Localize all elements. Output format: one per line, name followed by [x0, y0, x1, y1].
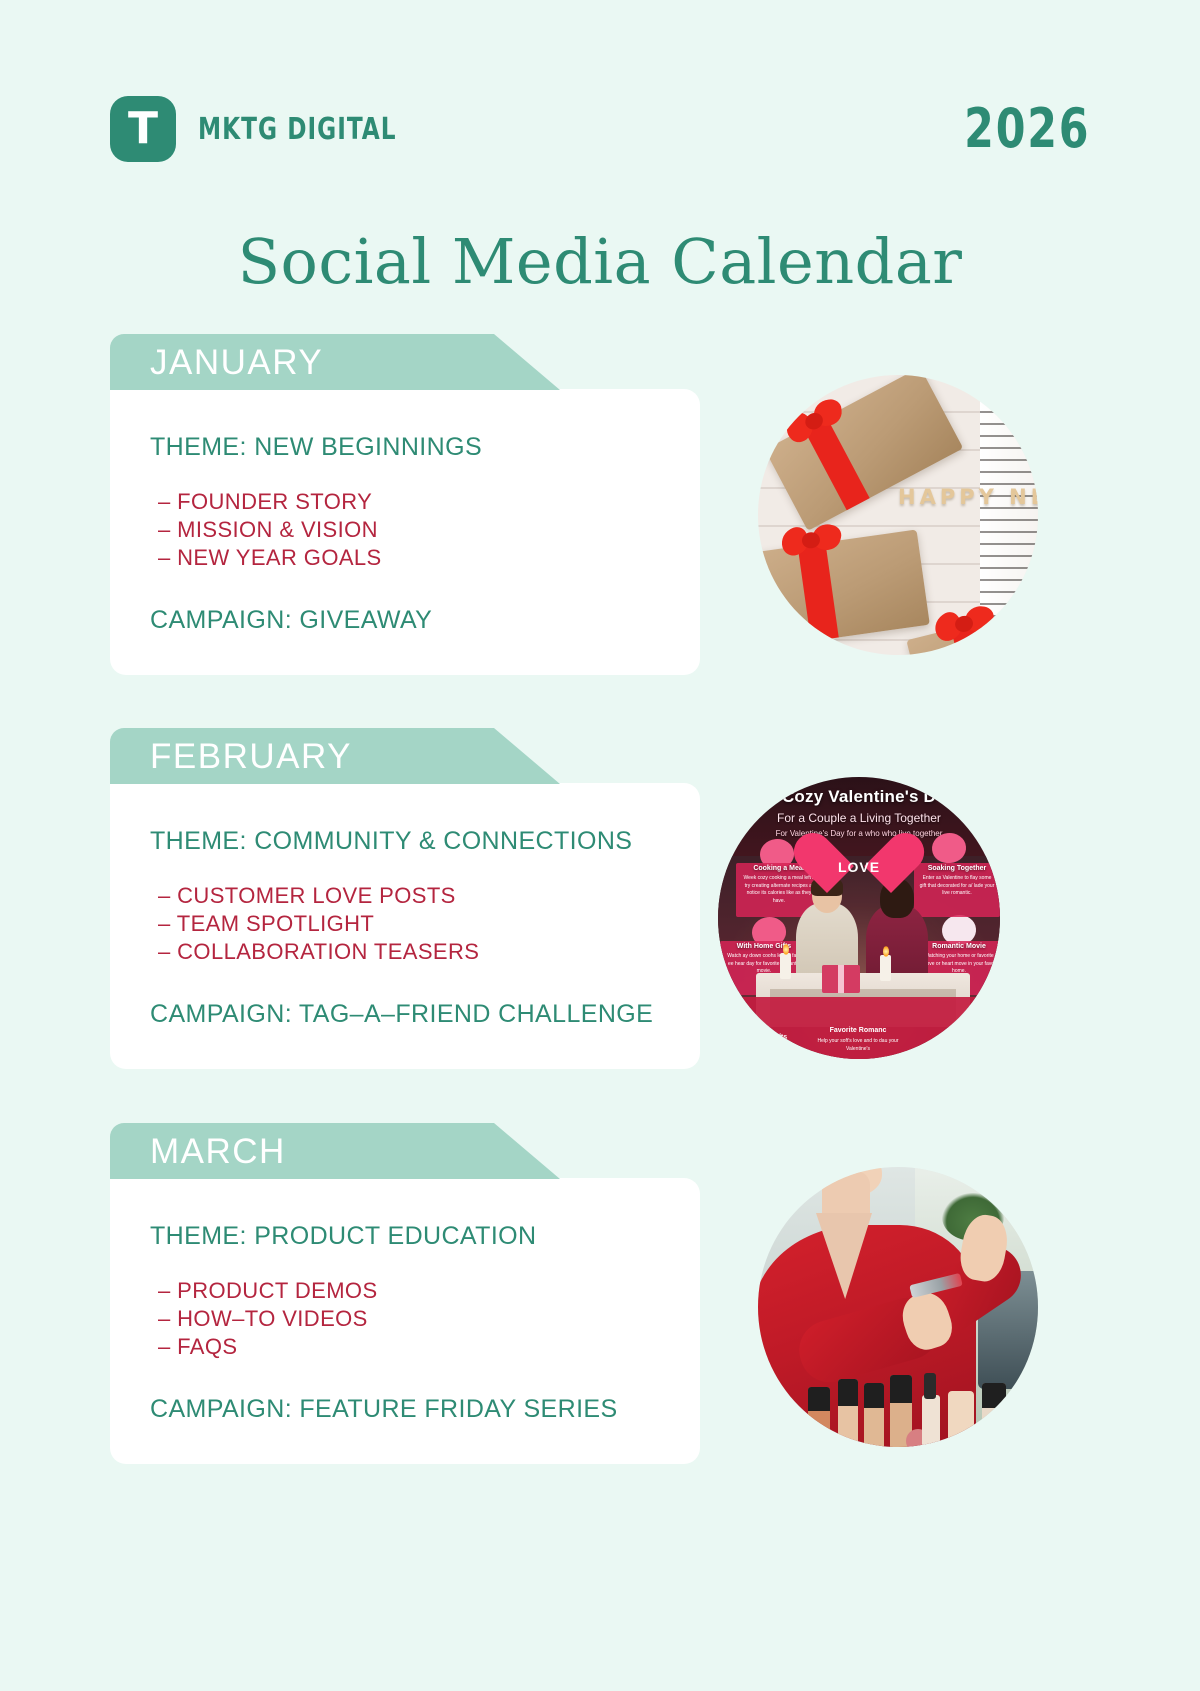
campaign-february: CAMPAIGN: TAG–A–FRIEND CHALLENGE — [150, 1000, 660, 1029]
logo-letter: T — [128, 107, 158, 151]
valentine-bottom-item-title: Their Li — [910, 1033, 994, 1044]
valentine-poster-title: Cozy Valentine's D — [718, 787, 1000, 807]
march-woman-red-blouse-cosmetics-photo — [758, 1167, 1038, 1447]
love-heart-label: LOVE — [838, 859, 880, 875]
valentine-bottom-item: Their Li Hall pl — [910, 1033, 994, 1053]
valentine-bottom-band: Heartfelt Gifts Viscovine of a Favorite … — [718, 997, 1000, 1059]
valentine-bottom-item-body: Viscovine of a — [748, 1046, 779, 1052]
bullet-list-february: – CUSTOMER LOVE POSTS – TEAM SPOTLIGHT –… — [150, 882, 660, 966]
cosmetic-tube-icon — [838, 1379, 858, 1447]
month-banner-january: JANUARY — [110, 334, 560, 390]
foundation-bottle-icon — [948, 1391, 974, 1447]
valentine-bottom-item-body: Help your soft's love and to dau your Va… — [817, 1038, 898, 1052]
cosmetic-tube-icon — [808, 1387, 830, 1447]
list-item: – MISSION & VISION — [158, 516, 660, 544]
brand-logo-icon: T — [110, 96, 176, 162]
month-name-january: JANUARY — [150, 345, 323, 380]
list-item: – COLLABORATION TEASERS — [158, 938, 660, 966]
cosmetic-bottle-icon — [982, 1383, 1006, 1447]
month-name-february: FEBRUARY — [150, 739, 352, 774]
page-title: Social Media Calendar — [0, 228, 1200, 296]
cosmetic-tube-icon — [864, 1383, 884, 1447]
valentine-info-card-body: Watching your home or favorite move or h… — [922, 953, 995, 974]
list-item: – HOW–TO VIDEOS — [158, 1305, 660, 1333]
masthead: T MKTG DIGITAL 2026 — [110, 96, 1090, 162]
theme-january: THEME: NEW BEGINNINGS — [150, 433, 660, 462]
happy-new-year-letters: HAPPY NEW YEAR — [898, 479, 1038, 516]
february-valentines-couple-infographic-photo: Cozy Valentine's D For a Couple a Living… — [718, 777, 1000, 1059]
cosmetic-bottle-icon — [922, 1395, 940, 1447]
theme-march: THEME: PRODUCT EDUCATION — [150, 1222, 660, 1251]
campaign-march: CAMPAIGN: FEATURE FRIDAY SERIES — [150, 1395, 660, 1424]
valentine-poster-subtitle-1: For a Couple a Living Together — [718, 811, 1000, 825]
valentine-bottom-item-title: Heartfelt Gifts — [722, 1033, 806, 1044]
valentine-bottom-item-body: Hall pl — [945, 1046, 959, 1052]
cosmetics-row — [802, 1373, 1028, 1447]
month-card-march: THEME: PRODUCT EDUCATION – PRODUCT DEMOS… — [110, 1178, 700, 1464]
bullet-list-january: – FOUNDER STORY – MISSION & VISION – NEW… — [150, 488, 660, 572]
campaign-january: CAMPAIGN: GIVEAWAY — [150, 606, 660, 635]
list-item: – NEW YEAR GOALS — [158, 544, 660, 572]
month-banner-february: FEBRUARY — [110, 728, 560, 784]
dropper-icon — [924, 1373, 936, 1399]
valentine-info-card-title: Soaking Together — [914, 864, 1000, 875]
love-heart-icon: LOVE — [823, 835, 895, 899]
candle-icon — [780, 953, 791, 979]
valentine-bottom-item-title: Favorite Romanc — [816, 1026, 900, 1037]
month-banner-march: MARCH — [110, 1123, 560, 1179]
valentine-bottom-item: Heartfelt Gifts Viscovine of a — [722, 1033, 806, 1053]
january-gifts-happy-new-year-photo: HAPPY NEW YEAR — [758, 375, 1038, 655]
valentine-bottom-item: Favorite Romanc Help your soft's love an… — [816, 1026, 900, 1054]
calendar-page: T MKTG DIGITAL 2026 Social Media Calenda… — [0, 0, 1200, 1691]
bullet-list-march: – PRODUCT DEMOS – HOW–TO VIDEOS – FAQS — [150, 1277, 660, 1361]
candle-icon — [880, 955, 891, 981]
month-card-january: THEME: NEW BEGINNINGS – FOUNDER STORY – … — [110, 389, 700, 675]
gift-box-icon — [822, 965, 860, 993]
valentine-info-card-body: Enter as Valentine to flay some gift tha… — [920, 875, 995, 896]
brand-lockup: T MKTG DIGITAL — [110, 96, 429, 162]
month-name-march: MARCH — [150, 1134, 286, 1169]
brand-name: MKTG DIGITAL — [198, 112, 397, 147]
list-item: – PRODUCT DEMOS — [158, 1277, 660, 1305]
list-item: – FOUNDER STORY — [158, 488, 660, 516]
list-item: – CUSTOMER LOVE POSTS — [158, 882, 660, 910]
month-card-february: THEME: COMMUNITY & CONNECTIONS – CUSTOME… — [110, 783, 700, 1069]
list-item: – TEAM SPOTLIGHT — [158, 910, 660, 938]
year-label: 2026 — [964, 102, 1090, 156]
theme-february: THEME: COMMUNITY & CONNECTIONS — [150, 827, 660, 856]
list-item: – FAQS — [158, 1333, 660, 1361]
